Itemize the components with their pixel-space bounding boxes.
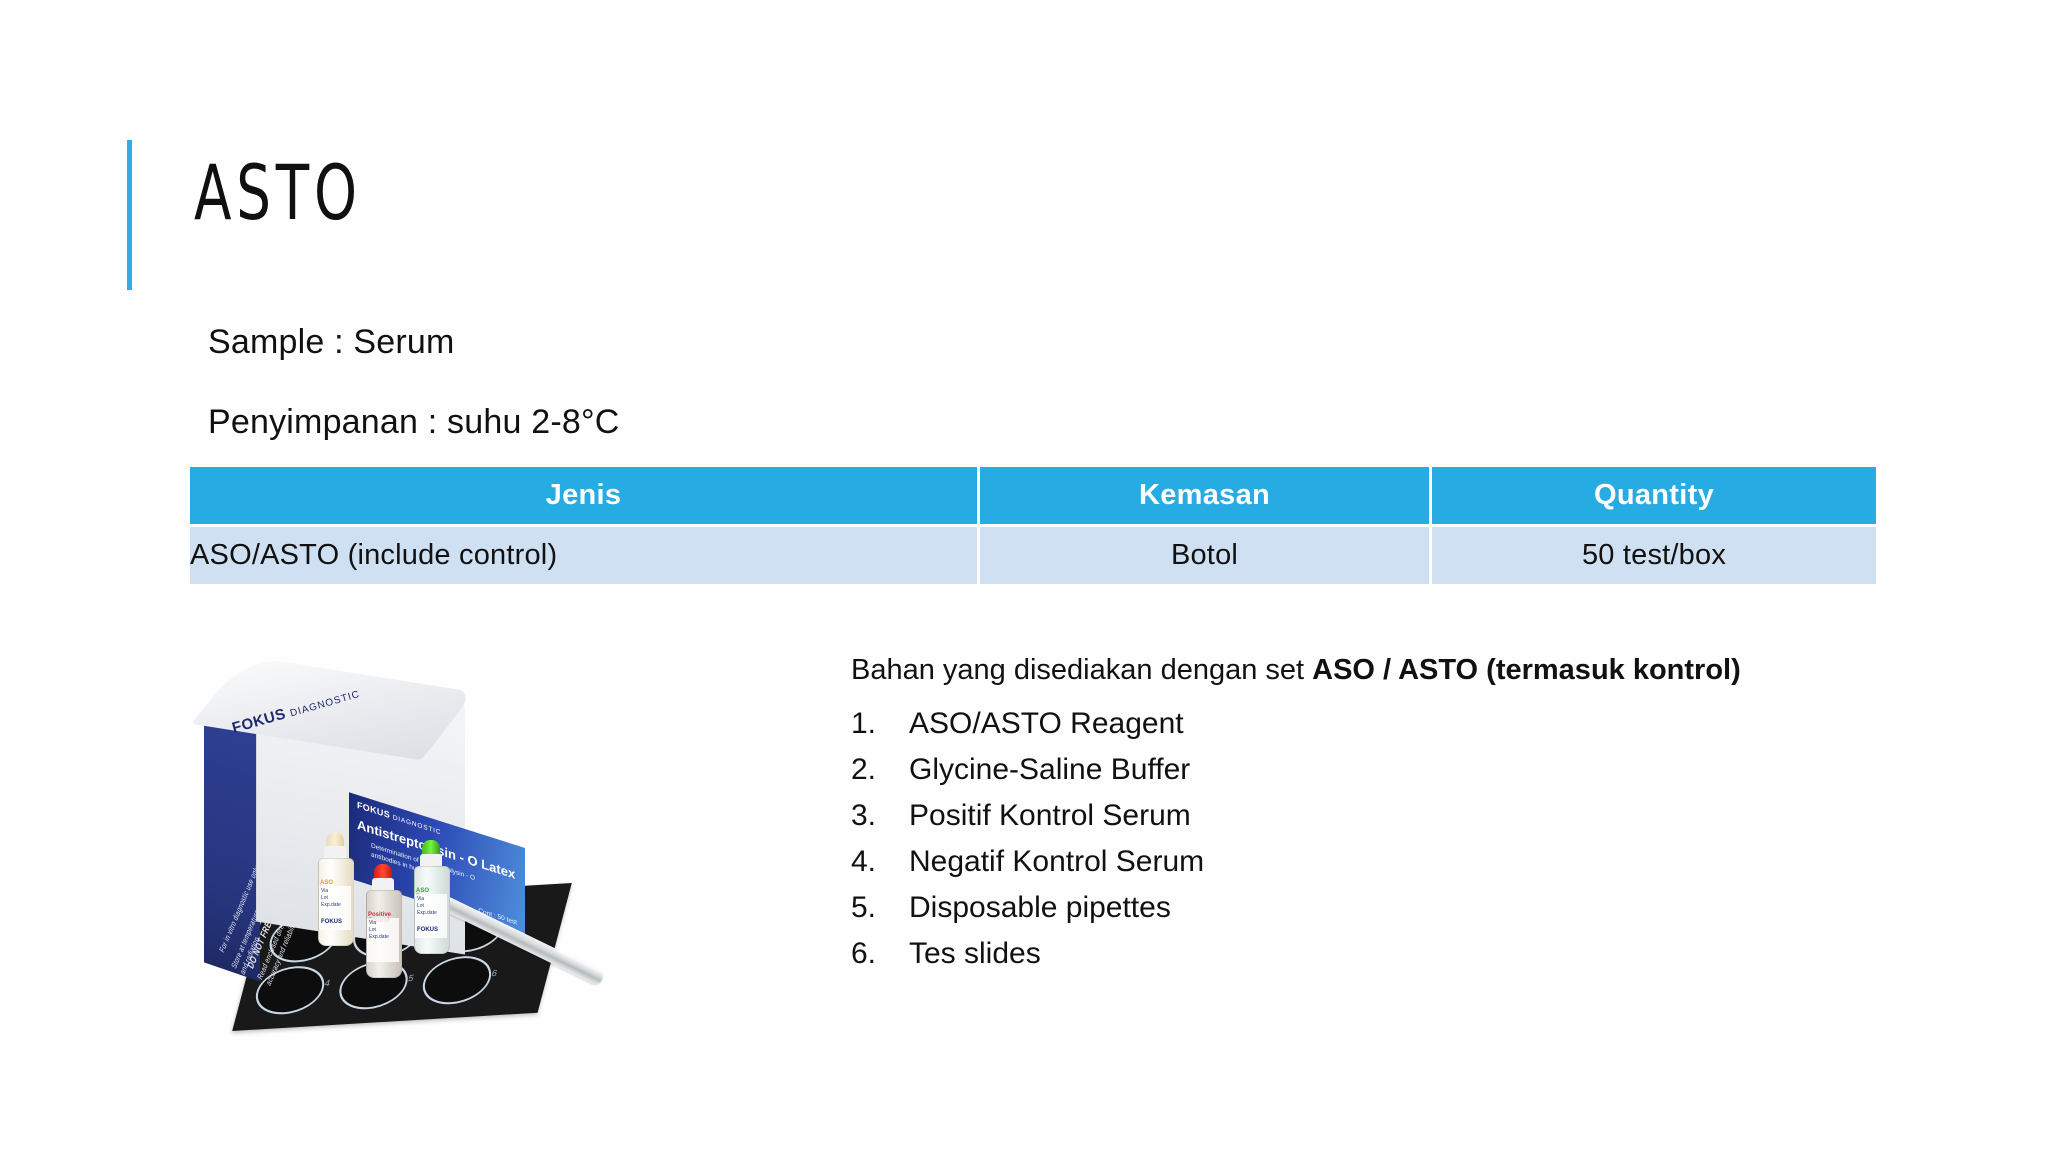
column-header-quantity: Quantity [1432, 467, 1876, 524]
bottle-label: Via Lot Exp.date FOKUS [415, 894, 447, 938]
page-title: ASTO [194, 152, 362, 234]
bottle-label-via: Via [369, 920, 397, 927]
bottle-label-exp: Exp.date [417, 910, 445, 917]
list-item-label: Positif Kontrol Serum [909, 793, 1191, 839]
cell-kemasan: Botol [980, 527, 1429, 584]
list-item: 4. Negatif Kontrol Serum [851, 839, 1851, 885]
list-item-label: Glycine-Saline Buffer [909, 747, 1190, 793]
well-number: 6 [491, 968, 499, 978]
list-item: 2. Glycine-Saline Buffer [851, 747, 1851, 793]
list-item-number: 5. [851, 885, 909, 931]
list-item-label: Disposable pipettes [909, 885, 1171, 931]
bottle-label-via: Via [321, 888, 349, 895]
bottle-label: Via Lot Exp.date FOKUS [319, 886, 351, 930]
bottle-label-via: Via [417, 896, 445, 903]
list-item: 6. Tes slides [851, 931, 1851, 977]
list-item-number: 6. [851, 931, 909, 977]
list-item: 3. Positif Kontrol Serum [851, 793, 1851, 839]
cell-quantity: 50 test/box [1432, 527, 1876, 584]
list-item-number: 1. [851, 701, 909, 747]
list-item-number: 2. [851, 747, 909, 793]
materials-block: Bahan yang disediakan dengan set ASO / A… [851, 648, 1851, 977]
storage-line: Penyimpanan : suhu 2-8°C [208, 402, 620, 442]
materials-intro-prefix: Bahan yang disediakan dengan set [851, 654, 1312, 686]
bottle-label-lot: Lot [417, 903, 445, 910]
list-item-number: 3. [851, 793, 909, 839]
cell-jenis: ASO/ASTO (include control) [190, 527, 977, 584]
list-item-label: Negatif Kontrol Serum [909, 839, 1204, 885]
column-header-jenis: Jenis [190, 467, 977, 524]
bottle-label-lot: Lot [369, 927, 397, 934]
table-row: ASO/ASTO (include control) Botol 50 test… [190, 527, 1876, 584]
list-item: 1. ASO/ASTO Reagent [851, 701, 1851, 747]
well-number: 5 [407, 973, 415, 983]
kit-box-side-panel: For in vitro diagnostic use only Store a… [204, 712, 260, 981]
bottle-label-exp: Exp.date [321, 902, 349, 909]
list-item-number: 4. [851, 839, 909, 885]
list-item-label: ASO/ASTO Reagent [909, 701, 1184, 747]
label-brand-name: FOKUS [357, 800, 390, 820]
bottle-label-lot: Lot [321, 895, 349, 902]
list-item: 5. Disposable pipettes [851, 885, 1851, 931]
bottle-brand-logo: FOKUS [321, 919, 342, 926]
bottle-label-exp: Exp.date [369, 934, 397, 941]
bottle-label: Via Lot Exp.date [367, 918, 399, 962]
column-header-kemasan: Kemasan [980, 467, 1429, 524]
spec-table: Jenis Kemasan Quantity ASO/ASTO (include… [187, 464, 1879, 587]
materials-intro-bold: ASO / ASTO (termasuk kontrol) [1312, 654, 1741, 686]
bottle-brand-logo: FOKUS [417, 927, 438, 934]
table-header-row: Jenis Kemasan Quantity [190, 467, 1876, 524]
materials-list: 1. ASO/ASTO Reagent 2. Glycine-Saline Bu… [851, 701, 1851, 977]
well-number: 4 [324, 978, 332, 988]
title-accent-bar [127, 140, 132, 290]
materials-intro: Bahan yang disediakan dengan set ASO / A… [851, 648, 1851, 693]
list-item-label: Tes slides [909, 931, 1041, 977]
sample-line: Sample : Serum [208, 322, 455, 362]
product-photo: 1 2 3 4 5 6 For in vitro diagnostic use … [190, 680, 650, 1070]
